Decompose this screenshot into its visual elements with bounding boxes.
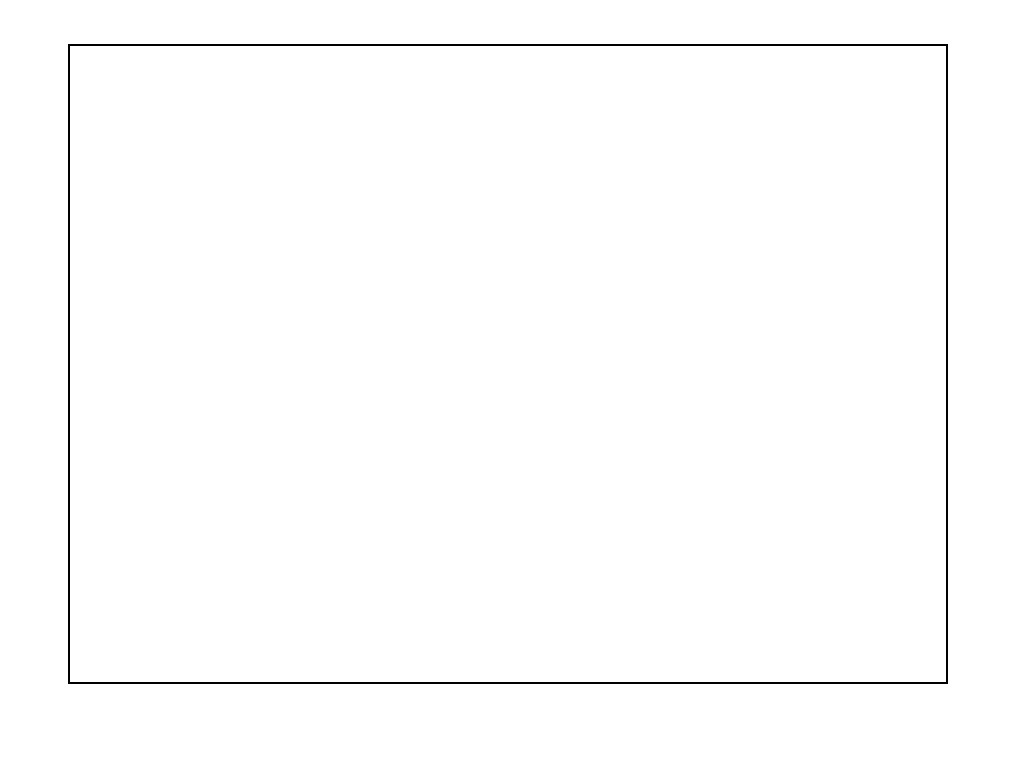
plot-area — [68, 44, 948, 684]
wind-profile-plot — [70, 46, 946, 682]
